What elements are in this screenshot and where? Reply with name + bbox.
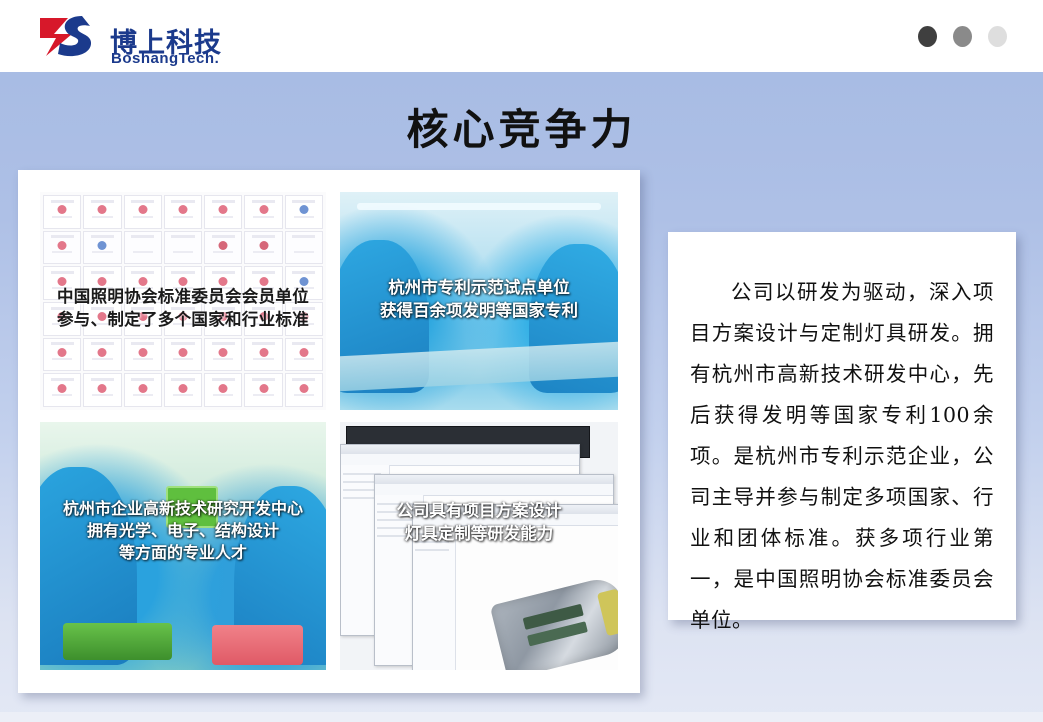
certificate-thumb <box>204 338 242 372</box>
caption-line: 灯具定制等研发能力 <box>340 523 618 546</box>
tile-caption: 中国照明协会标准委员会会员单位 参与、制定了多个国家和行业标准 <box>40 286 326 332</box>
certificate-thumb <box>124 231 162 265</box>
caption-line: 杭州市专利示范试点单位 <box>340 277 618 300</box>
tile-caption: 公司具有项目方案设计 灯具定制等研发能力 <box>340 500 618 546</box>
red-crate <box>212 625 304 665</box>
tile-cleanroom-production[interactable]: 杭州市专利示范试点单位 获得百余项发明等国家专利 <box>340 192 618 410</box>
slide-nav-dots[interactable] <box>918 26 1007 47</box>
caption-line: 参与、制定了多个国家和行业标准 <box>40 309 326 332</box>
dot-third-icon[interactable] <box>988 26 1007 47</box>
tile-caption: 杭州市专利示范试点单位 获得百余项发明等国家专利 <box>340 277 618 323</box>
dot-active-icon[interactable] <box>918 26 937 47</box>
certificate-thumb <box>285 195 323 229</box>
dot-second-icon[interactable] <box>953 26 972 47</box>
logo-mark-icon <box>38 12 98 60</box>
company-logo[interactable]: 博上科技 BoshangTech. <box>38 12 238 62</box>
certificate-thumb <box>164 338 202 372</box>
component-tray <box>63 623 172 660</box>
lamp-3d-model <box>490 574 618 670</box>
certificate-thumb <box>164 231 202 265</box>
certificate-thumb <box>164 373 202 407</box>
certificate-thumb <box>204 231 242 265</box>
description-paragraph: 公司以研发为驱动，深入项目方案设计与定制灯具研发。拥有杭州市高新技术研发中心，先… <box>690 272 994 641</box>
certificate-thumb <box>43 195 81 229</box>
tile-caption: 杭州市企业高新技术研究开发中心 拥有光学、电子、结构设计 等方面的专业人才 <box>40 498 326 564</box>
certificate-thumb <box>204 373 242 407</box>
certificate-thumb <box>285 231 323 265</box>
certificate-thumb <box>83 195 121 229</box>
certificate-thumb <box>285 373 323 407</box>
caption-line: 拥有光学、电子、结构设计 <box>40 520 326 542</box>
certificate-thumb <box>285 338 323 372</box>
certificate-thumb <box>43 231 81 265</box>
tile-cad-design[interactable]: 公司具有项目方案设计 灯具定制等研发能力 <box>340 422 618 670</box>
certificate-thumb <box>83 338 121 372</box>
page-header: 博上科技 BoshangTech. <box>0 0 1043 72</box>
certificate-thumb <box>244 195 282 229</box>
caption-line: 获得百余项发明等国家专利 <box>340 300 618 323</box>
certificate-thumb <box>204 195 242 229</box>
certificate-thumb <box>244 231 282 265</box>
slide-bottom-strip <box>0 712 1043 722</box>
caption-line: 等方面的专业人才 <box>40 542 326 564</box>
tile-certificates[interactable]: 中国照明协会标准委员会会员单位 参与、制定了多个国家和行业标准 <box>40 192 326 410</box>
certificate-thumb <box>244 338 282 372</box>
certificate-thumb <box>43 373 81 407</box>
certificate-thumb <box>164 195 202 229</box>
certificate-thumb <box>124 195 162 229</box>
caption-line: 杭州市企业高新技术研究开发中心 <box>40 498 326 520</box>
certificate-thumb <box>244 373 282 407</box>
logo-english-text: BoshangTech. <box>111 50 219 67</box>
page-title: 核心竞争力 <box>0 96 1043 157</box>
ceiling-light <box>357 203 602 210</box>
description-panel: 公司以研发为驱动，深入项目方案设计与定制灯具研发。拥有杭州市高新技术研发中心，先… <box>668 232 1016 620</box>
certificate-thumb <box>124 373 162 407</box>
certificate-thumb <box>43 338 81 372</box>
certificate-thumb <box>83 231 121 265</box>
slide-root: 博上科技 BoshangTech. 核心竞争力 <box>0 0 1043 722</box>
tile-rd-center[interactable]: 杭州市企业高新技术研究开发中心 拥有光学、电子、结构设计 等方面的专业人才 <box>40 422 326 670</box>
caption-line: 公司具有项目方案设计 <box>340 500 618 523</box>
certificate-thumb <box>83 373 121 407</box>
caption-line: 中国照明协会标准委员会会员单位 <box>40 286 326 309</box>
certificate-thumb <box>124 338 162 372</box>
collage-card: 中国照明协会标准委员会会员单位 参与、制定了多个国家和行业标准 杭州市专利示范试… <box>18 170 640 693</box>
